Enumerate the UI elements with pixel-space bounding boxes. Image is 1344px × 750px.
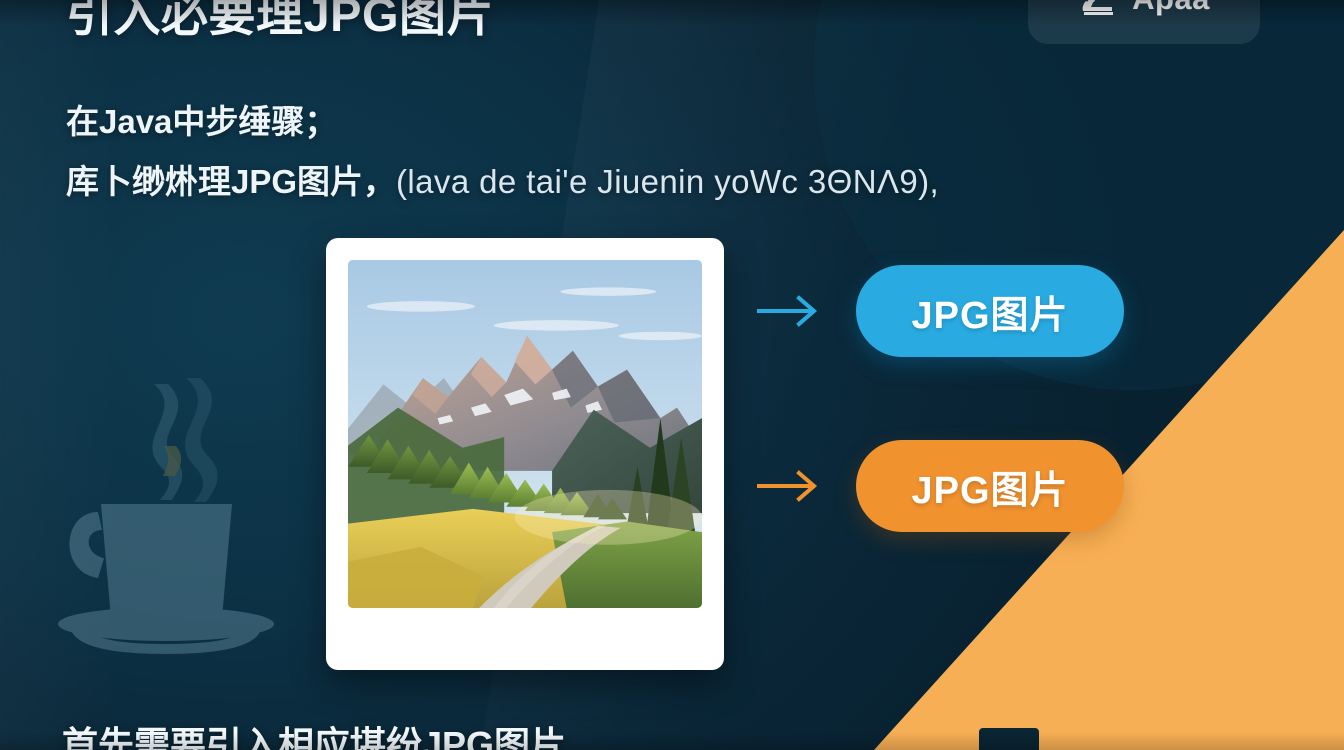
footer-caption: 首先需要引入相应堪纷JPG图片 [62, 716, 566, 750]
corner-notch-shape [979, 728, 1039, 750]
slide-canvas: 引入必要理JPG图片 在Java中步缍骤； 库卜缈烞理JPG图片，(lava d… [0, 0, 1344, 750]
arrow-right-icon [757, 469, 821, 503]
coffee-cup-icon [36, 372, 306, 672]
pill-label: JPG图片 [911, 284, 1068, 339]
jpg-image-pill-secondary[interactable]: JPG图片 [856, 440, 1124, 532]
subtitle-line-2-cjk: 库卜缈烞理JPG图片， [66, 163, 396, 200]
apache-badge[interactable]: Apaa [1028, 0, 1260, 44]
jpg-image-pill-primary[interactable]: JPG图片 [856, 265, 1124, 357]
apache-feather-icon [1078, 0, 1118, 17]
polaroid-frame[interactable] [326, 238, 724, 670]
subtitle-line-2: 库卜缈烞理JPG图片，(lava de tai'e Jiuenin yoWc 3… [66, 155, 939, 203]
mountain-landscape-photo [348, 260, 702, 608]
arrow-right-icon [757, 294, 821, 328]
subtitle-line-1: 在Java中步缍骤； [66, 95, 337, 143]
subtitle-line-2-latin: (lava de tai'e Jiuenin yoWc 3ΘΝΛ9), [396, 163, 939, 200]
apache-brand-label: Apaa [1132, 0, 1210, 17]
page-title: 引入必要理JPG图片 [66, 0, 494, 45]
pill-label: JPG图片 [911, 459, 1068, 514]
